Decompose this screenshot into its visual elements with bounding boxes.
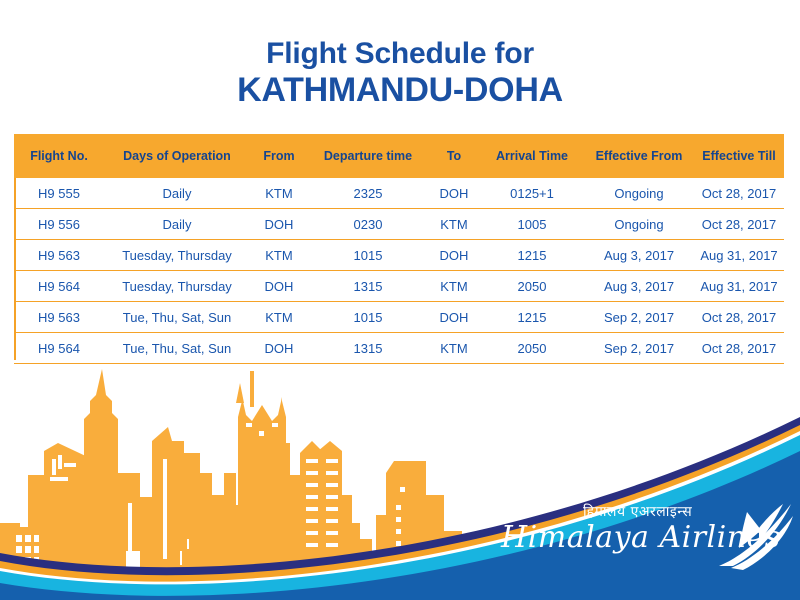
cell-effective-from: Ongoing <box>584 209 694 240</box>
cell-flight-no: H9 555 <box>14 178 104 209</box>
column-header-flight-no: Flight No. <box>14 134 104 178</box>
page-title: Flight Schedule for KATHMANDU-DOHA <box>0 38 800 108</box>
cell-arrival-time: 1215 <box>480 302 584 333</box>
cell-flight-no: H9 556 <box>14 209 104 240</box>
cell-effective-from: Ongoing <box>584 178 694 209</box>
cell-flight-no: H9 563 <box>14 240 104 271</box>
title-line-route: KATHMANDU-DOHA <box>0 72 800 108</box>
cell-from: KTM <box>250 240 308 271</box>
cell-effective-till: Aug 31, 2017 <box>694 240 784 271</box>
flight-schedule-table: Flight No. Days of Operation From Depart… <box>14 134 784 364</box>
cell-departure-time: 1015 <box>308 302 428 333</box>
table-header-row: Flight No. Days of Operation From Depart… <box>14 134 784 178</box>
column-header-from: From <box>250 134 308 178</box>
cell-departure-time: 2325 <box>308 178 428 209</box>
cell-flight-no: H9 563 <box>14 302 104 333</box>
cell-arrival-time: 1005 <box>480 209 584 240</box>
table-row: H9 564 Tuesday, Thursday DOH 1315 KTM 20… <box>14 271 784 302</box>
cell-from: DOH <box>250 209 308 240</box>
cell-from: KTM <box>250 302 308 333</box>
cell-effective-from: Sep 2, 2017 <box>584 302 694 333</box>
cell-flight-no: H9 564 <box>14 271 104 302</box>
table-row: H9 563 Tue, Thu, Sat, Sun KTM 1015 DOH 1… <box>14 302 784 333</box>
cell-effective-from: Aug 3, 2017 <box>584 271 694 302</box>
column-header-days: Days of Operation <box>104 134 250 178</box>
cell-to: DOH <box>428 302 480 333</box>
cell-to: KTM <box>428 209 480 240</box>
cell-days: Daily <box>104 178 250 209</box>
flight-schedule-poster: Flight Schedule for KATHMANDU-DOHA Fligh… <box>0 0 800 600</box>
cell-days: Tue, Thu, Sat, Sun <box>104 302 250 333</box>
table-left-accent-rule <box>14 178 16 360</box>
cell-from: KTM <box>250 178 308 209</box>
table-row: H9 555 Daily KTM 2325 DOH 0125+1 Ongoing… <box>14 178 784 209</box>
mountain-wing-icon <box>717 502 795 572</box>
title-line-primary: Flight Schedule for <box>0 38 800 70</box>
column-header-departure-time: Departure time <box>308 134 428 178</box>
cell-days: Daily <box>104 209 250 240</box>
table-row: H9 556 Daily DOH 0230 KTM 1005 Ongoing O… <box>14 209 784 240</box>
cell-departure-time: 1015 <box>308 240 428 271</box>
cell-to: KTM <box>428 271 480 302</box>
cell-from: DOH <box>250 271 308 302</box>
column-header-effective-till: Effective Till <box>694 134 784 178</box>
cell-days: Tuesday, Thursday <box>104 240 250 271</box>
logo-devanagari-text: हिमालय एअरलाइन्स <box>583 502 692 521</box>
table-row: H9 563 Tuesday, Thursday KTM 1015 DOH 12… <box>14 240 784 271</box>
cell-arrival-time: 1215 <box>480 240 584 271</box>
cell-effective-till: Oct 28, 2017 <box>694 209 784 240</box>
city-skyline-silhouette <box>0 369 476 570</box>
cell-departure-time: 1315 <box>308 271 428 302</box>
cell-arrival-time: 2050 <box>480 271 584 302</box>
cell-to: DOH <box>428 240 480 271</box>
cell-days: Tuesday, Thursday <box>104 271 250 302</box>
cell-effective-till: Oct 28, 2017 <box>694 178 784 209</box>
column-header-to: To <box>428 134 480 178</box>
cell-departure-time: 0230 <box>308 209 428 240</box>
cell-arrival-time: 0125+1 <box>480 178 584 209</box>
cell-to: DOH <box>428 178 480 209</box>
cell-effective-from: Aug 3, 2017 <box>584 240 694 271</box>
column-header-effective-from: Effective From <box>584 134 694 178</box>
cell-effective-till: Aug 31, 2017 <box>694 271 784 302</box>
cell-effective-till: Oct 28, 2017 <box>694 302 784 333</box>
column-header-arrival-time: Arrival Time <box>480 134 584 178</box>
himalaya-airlines-logo: हिमालय एअरलाइन्स Himalaya Airlines <box>495 500 795 580</box>
